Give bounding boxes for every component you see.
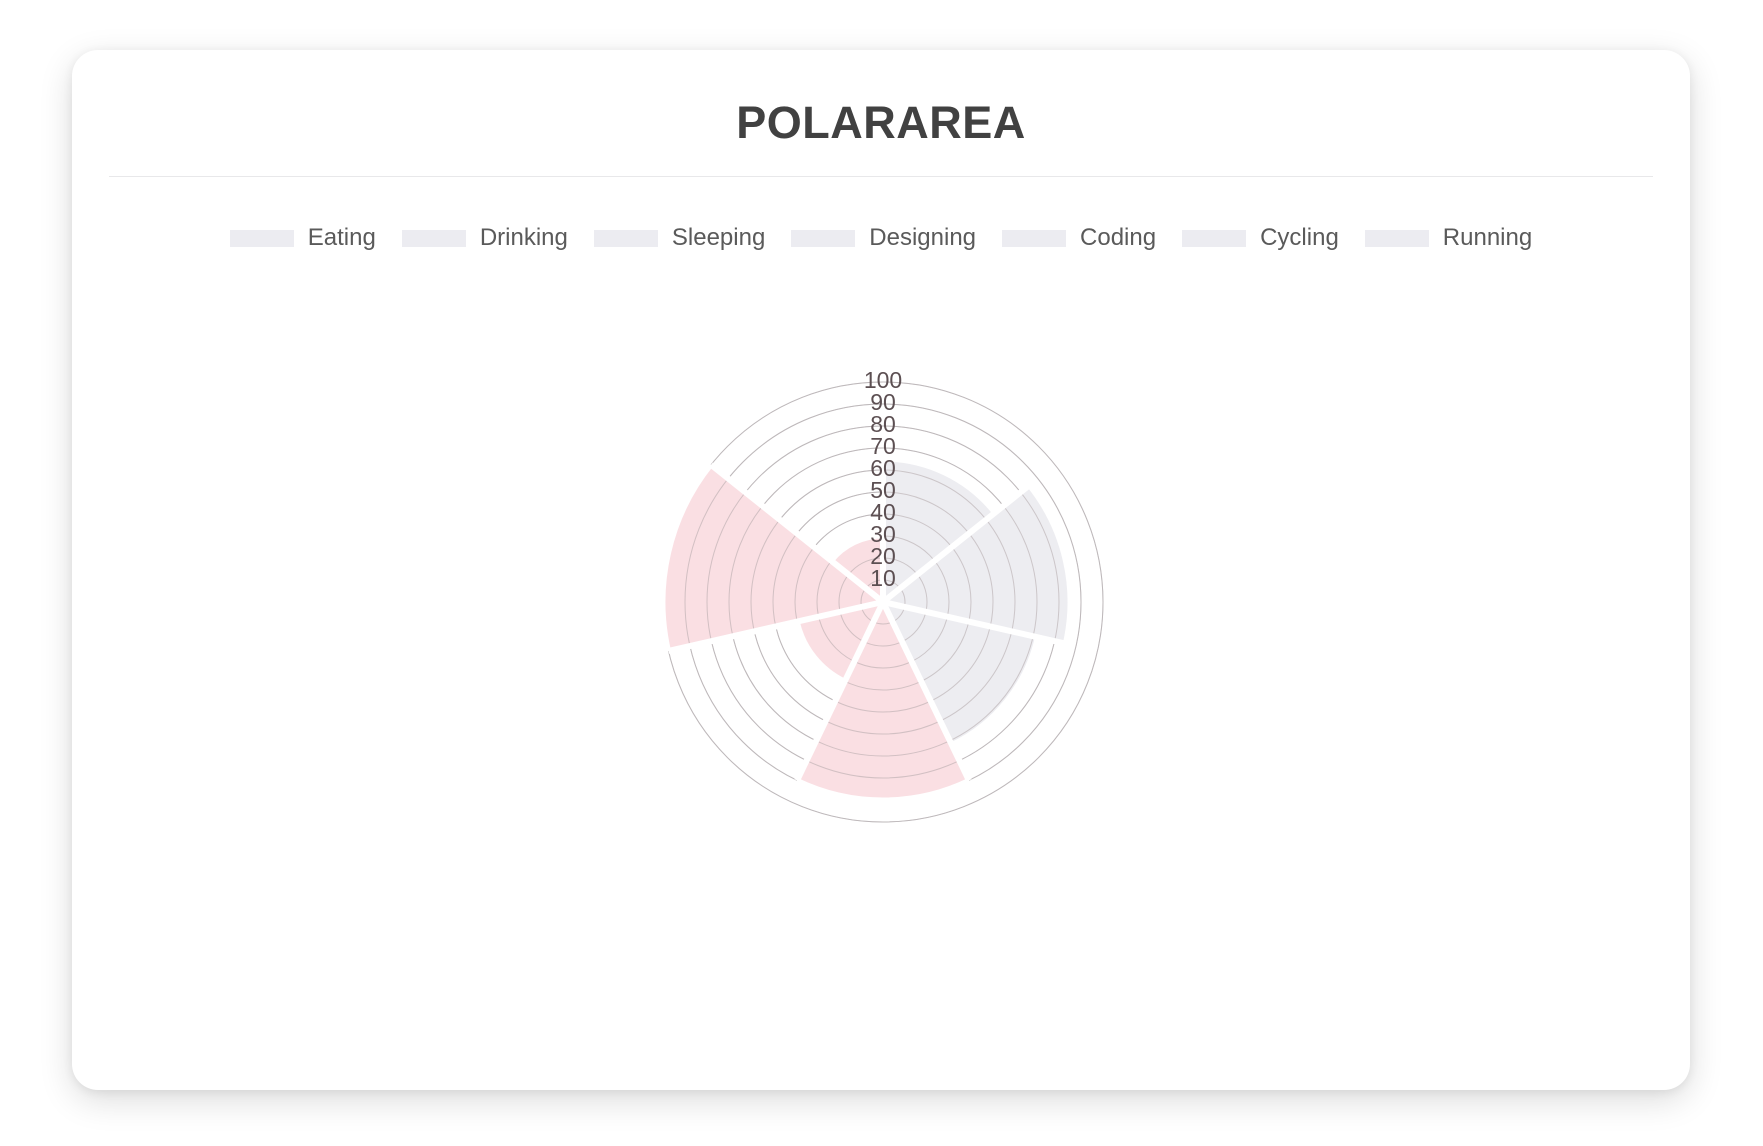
chart-card: POLARAREA EatingDrinkingSleepingDesignin…	[72, 50, 1690, 1090]
polar-area-svg: 102030405060708090100	[72, 50, 1690, 1090]
polar-area-chart: 102030405060708090100	[72, 50, 1690, 1090]
radial-tick-label-100: 100	[864, 367, 902, 393]
